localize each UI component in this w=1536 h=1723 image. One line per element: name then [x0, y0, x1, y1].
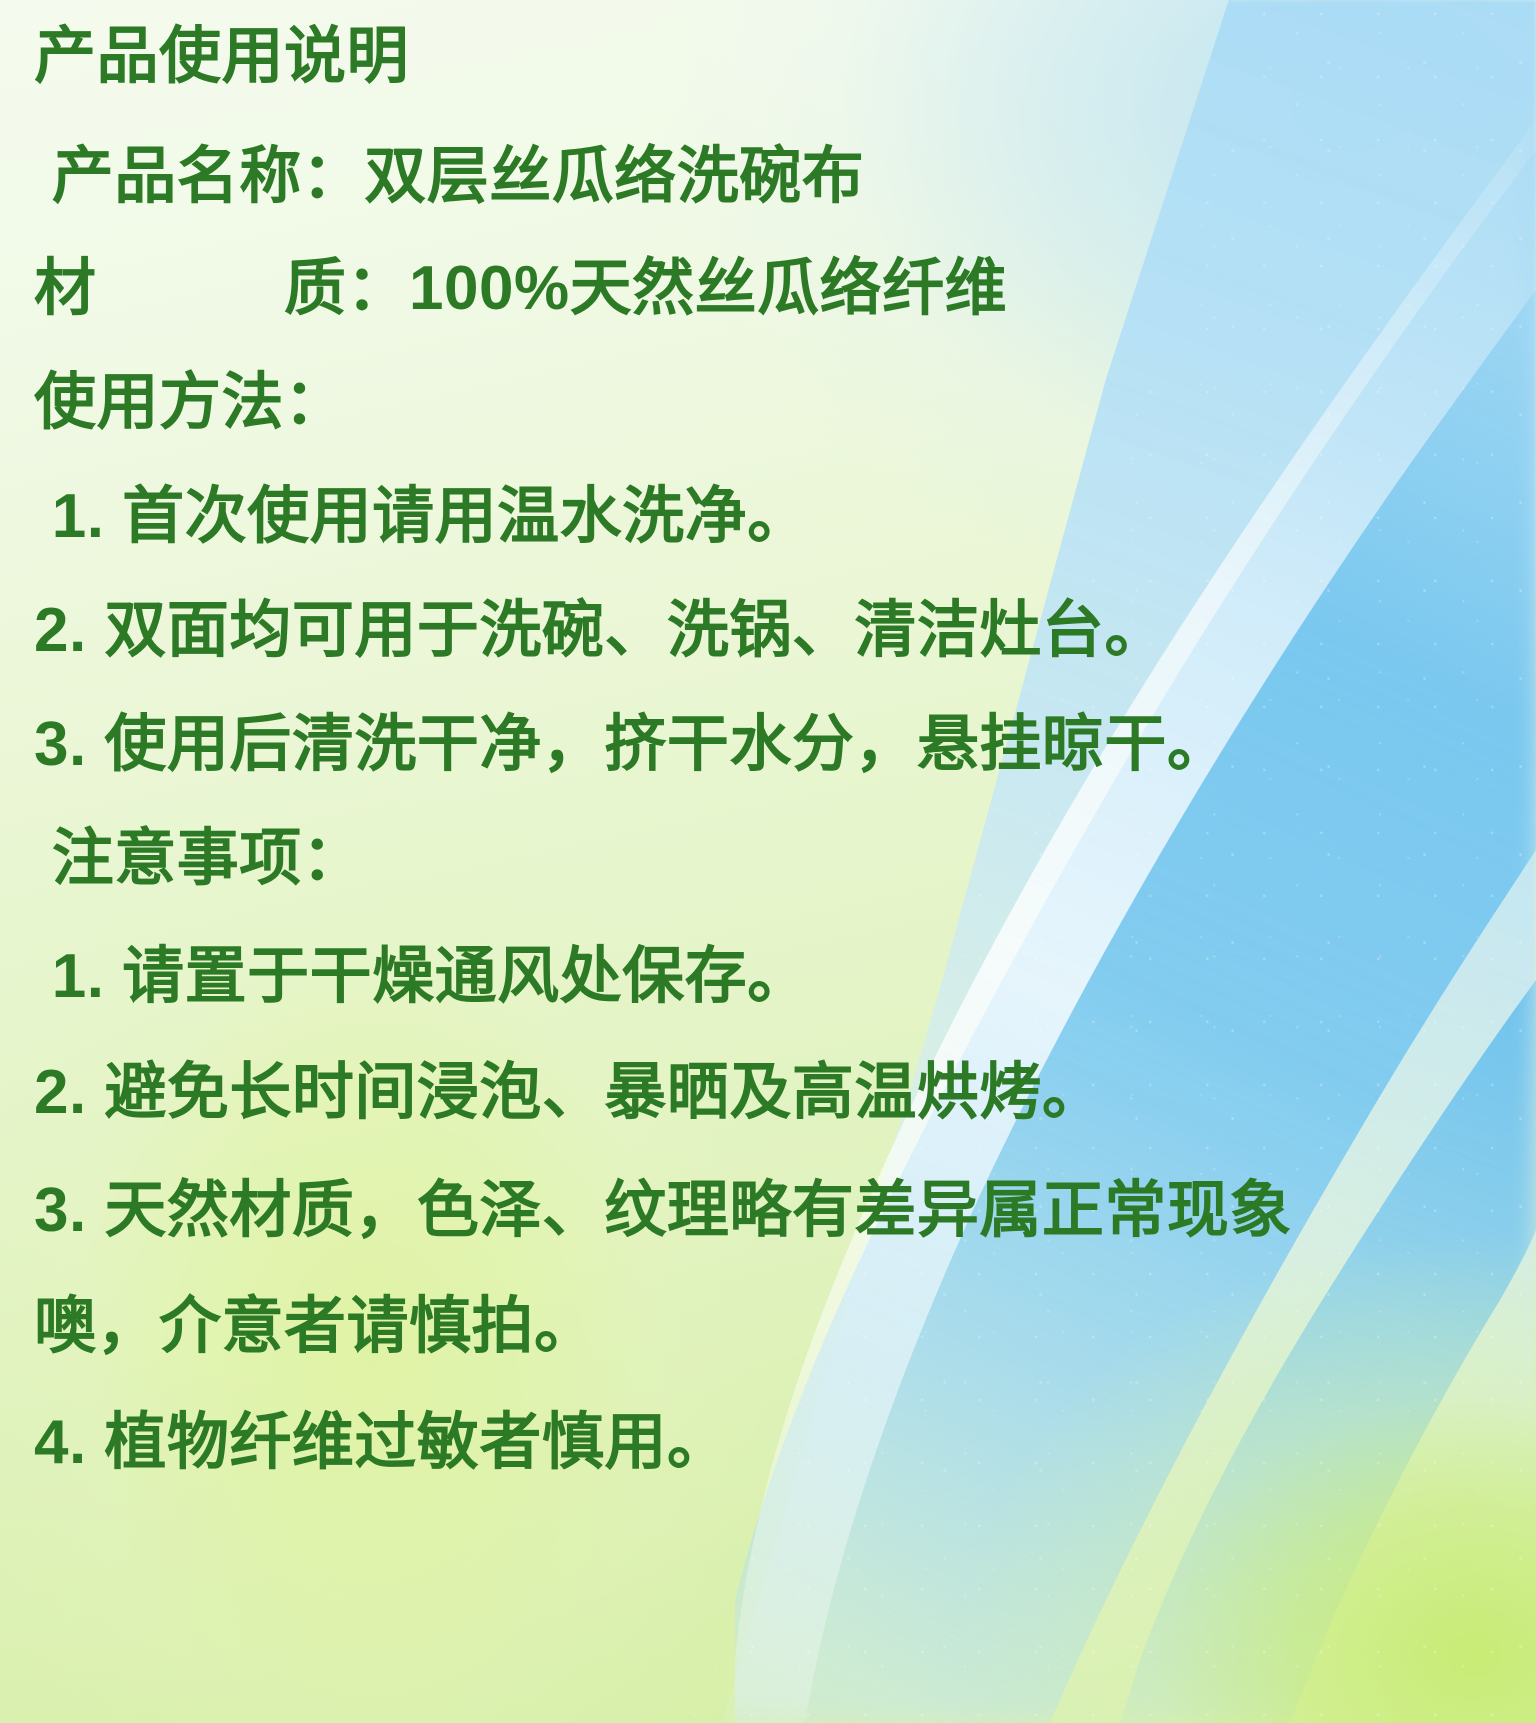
notes-item-3-line-1: 3. 天然材质，色泽、纹理略有差异属正常现象 — [34, 1180, 1536, 1242]
notes-item-2: 2. 避免长时间浸泡、暴晒及高温烘烤。 — [34, 1062, 1536, 1124]
notes-item-4: 4. 植物纤维过敏者慎用。 — [34, 1412, 1536, 1474]
page-title: 产品使用说明 — [34, 26, 1536, 88]
product-instruction-card: 产品使用说明 产品名称：双层丝瓜络洗碗布 材 质：100%天然丝瓜络纤维 使用方… — [0, 0, 1536, 1723]
notes-item-1: 1. 请置于干燥通风处保存。 — [34, 946, 1536, 1008]
notes-heading: 注意事项： — [34, 828, 1536, 890]
usage-item-2: 2. 双面均可用于洗碗、洗锅、清洁灶台。 — [34, 600, 1536, 662]
spec-product-name: 产品名称：双层丝瓜络洗碗布 — [34, 146, 1536, 208]
usage-item-1: 1. 首次使用请用温水洗净。 — [34, 486, 1536, 548]
usage-heading: 使用方法： — [34, 372, 1536, 434]
usage-item-3: 3. 使用后清洗干净，挤干水分，悬挂晾干。 — [34, 714, 1536, 776]
notes-item-3-line-2: 噢，介意者请慎拍。 — [34, 1296, 1536, 1358]
instruction-text-block: 产品使用说明 产品名称：双层丝瓜络洗碗布 材 质：100%天然丝瓜络纤维 使用方… — [0, 0, 1536, 1723]
spec-material: 材 质：100%天然丝瓜络纤维 — [34, 258, 1536, 320]
